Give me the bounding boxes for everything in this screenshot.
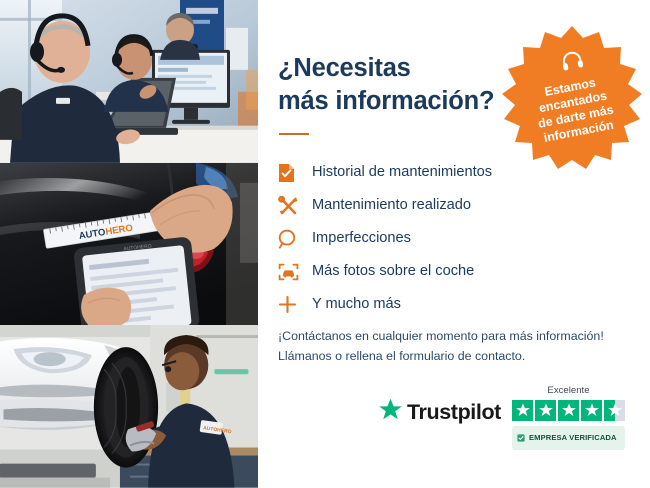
feature-label: Historial de mantenimientos bbox=[312, 165, 492, 180]
feature-list: Historial de mantenimientos Mantenimient… bbox=[278, 156, 618, 321]
trustpilot-wordmark: Trustpilot bbox=[407, 402, 501, 424]
promo-badge: Estamos encantados de darte más informac… bbox=[499, 24, 645, 170]
trustpilot-stars bbox=[506, 400, 631, 421]
trustpilot-star-icon bbox=[378, 398, 403, 427]
car-inspection-photo: AUTO HERO AUTOHERO bbox=[0, 163, 258, 326]
feature-label: Y mucho más bbox=[312, 297, 401, 312]
checkbox-check-icon bbox=[517, 429, 525, 447]
trustpilot-logo: Trustpilot bbox=[378, 398, 501, 427]
tools-icon bbox=[278, 195, 312, 217]
star-3 bbox=[558, 400, 579, 421]
contact-line-2: Llámanos o rellena el formulario de cont… bbox=[278, 346, 638, 366]
content-panel: ¿Necesitas más información? Estamos enca… bbox=[258, 0, 650, 488]
feature-item-maintenance-done: Mantenimiento realizado bbox=[278, 189, 618, 222]
plus-icon bbox=[278, 294, 312, 316]
trustpilot-rating-label: Excelente bbox=[506, 386, 631, 396]
feature-item-much-more: Y mucho más bbox=[278, 288, 618, 321]
feature-label: Mantenimiento realizado bbox=[312, 198, 471, 213]
information-banner: AUTO HERO AUTOHERO bbox=[0, 0, 650, 488]
page-title: ¿Necesitas más información? bbox=[278, 52, 494, 117]
magnifier-icon bbox=[278, 228, 312, 250]
headset-icon bbox=[559, 48, 584, 72]
document-check-icon bbox=[278, 162, 312, 184]
verified-business-badge: EMPRESA VERIFICADA bbox=[512, 426, 625, 450]
mechanic-wheel-photo: AUTOHERO bbox=[0, 325, 258, 488]
photo-column: AUTO HERO AUTOHERO bbox=[0, 0, 258, 488]
title-divider bbox=[279, 133, 309, 135]
contact-line-1: ¡Contáctanos en cualquier momento para m… bbox=[278, 326, 638, 346]
star-2 bbox=[535, 400, 556, 421]
feature-item-more-photos: Más fotos sobre el coche bbox=[278, 255, 618, 288]
feature-label: Imperfecciones bbox=[312, 231, 411, 246]
starburst-shape bbox=[499, 24, 645, 170]
feature-label: Más fotos sobre el coche bbox=[312, 264, 474, 279]
car-frame-icon bbox=[278, 261, 312, 283]
call-center-agents-photo bbox=[0, 0, 258, 163]
star-4 bbox=[581, 400, 602, 421]
trustpilot-widget[interactable]: Trustpilot Excelente bbox=[378, 386, 633, 448]
feature-item-maintenance-history: Historial de mantenimientos bbox=[278, 156, 618, 189]
verified-business-label: EMPRESA VERIFICADA bbox=[529, 434, 617, 442]
trustpilot-rating: Excelente bbox=[506, 386, 631, 450]
feature-item-imperfections: Imperfecciones bbox=[278, 222, 618, 255]
contact-copy: ¡Contáctanos en cualquier momento para m… bbox=[278, 326, 638, 366]
star-1 bbox=[512, 400, 533, 421]
star-5-half bbox=[604, 400, 625, 421]
